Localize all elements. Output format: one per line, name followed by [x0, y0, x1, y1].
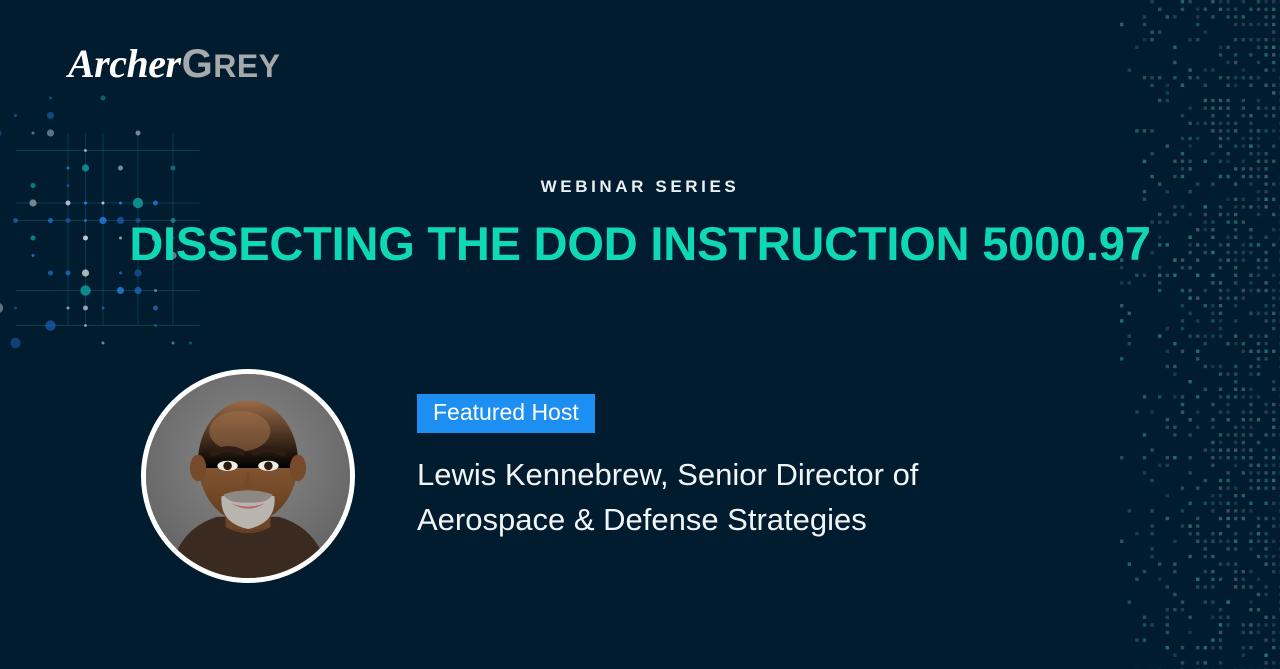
eyebrow-label: WEBINAR SERIES: [0, 177, 1280, 197]
avatar: [141, 369, 355, 583]
status-badge: Featured Host: [417, 394, 595, 433]
pixel-matrix-pattern: [1120, 0, 1280, 669]
logo-grey-cap: G: [182, 42, 214, 86]
avatar-photo: [146, 374, 350, 578]
page-title: DISSECTING THE DOD INSTRUCTION 5000.97: [0, 218, 1280, 270]
webinar-promo-banner: Archer GREY WEBINAR SERIES DISSECTING TH…: [0, 0, 1280, 669]
host-name-title: Lewis Kennebrew, Senior Director of Aero…: [417, 453, 1017, 542]
logo-grey-text: GREY: [182, 42, 281, 87]
logo-archer-text: Archer: [68, 40, 181, 87]
logo-grey-rest: REY: [213, 48, 280, 84]
archergrey-logo[interactable]: Archer GREY: [68, 40, 281, 87]
host-info: Featured Host Lewis Kennebrew, Senior Di…: [417, 394, 1057, 542]
